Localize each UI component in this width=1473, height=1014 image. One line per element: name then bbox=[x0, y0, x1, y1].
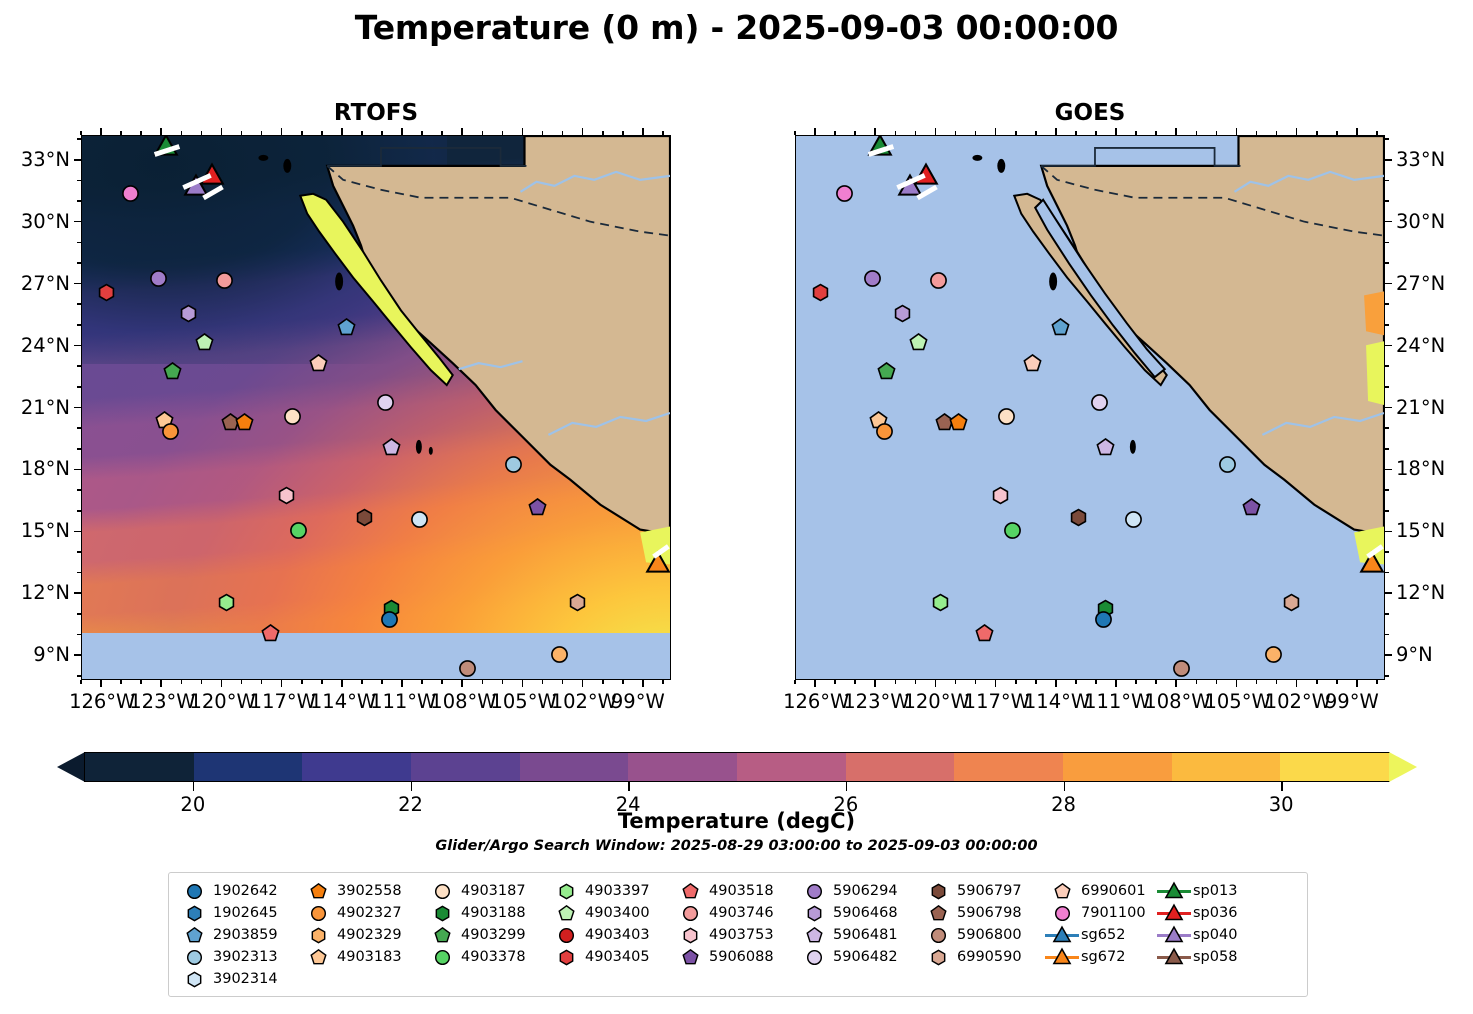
legend-label: 5906088 bbox=[709, 949, 795, 965]
legend-item[interactable]: 4903378 bbox=[423, 946, 547, 968]
map-marker[interactable] bbox=[1003, 521, 1022, 540]
x-axis-label: 120°W bbox=[189, 690, 255, 713]
x-axis-minor-tick bbox=[662, 131, 664, 135]
legend-label: sg652 bbox=[1081, 927, 1155, 943]
y-axis-minor-tick bbox=[77, 510, 81, 512]
x-axis-minor-tick bbox=[1015, 131, 1017, 135]
x-axis-minor-tick bbox=[441, 131, 443, 135]
y-axis-label: 18°N bbox=[1396, 457, 1445, 480]
map-marker[interactable] bbox=[975, 624, 994, 643]
x-axis-minor-tick bbox=[794, 131, 796, 135]
x-axis-minor-tick bbox=[1216, 131, 1218, 135]
x-axis-minor-tick bbox=[1075, 680, 1077, 684]
legend-item[interactable]: 4903188 bbox=[423, 902, 547, 924]
x-axis-tick bbox=[401, 680, 403, 687]
x-axis-minor-tick bbox=[361, 131, 363, 135]
legend-item[interactable]: sp058 bbox=[1155, 946, 1267, 968]
x-axis-label: 111°W bbox=[370, 690, 436, 713]
panel-title-goes: GOES bbox=[795, 100, 1385, 126]
legend-item[interactable]: 4903746 bbox=[671, 902, 795, 924]
map-marker[interactable] bbox=[811, 283, 830, 302]
y-axis-minor-tick bbox=[77, 386, 81, 388]
x-axis-minor-tick bbox=[1256, 680, 1258, 684]
float-marker-icon bbox=[671, 905, 709, 922]
x-axis-tick bbox=[100, 128, 102, 135]
legend-label: 5906482 bbox=[833, 949, 919, 965]
map-marker[interactable] bbox=[1023, 354, 1042, 373]
x-axis-minor-tick bbox=[502, 680, 504, 684]
legend-label: 5906798 bbox=[957, 905, 1043, 921]
legend-label: 4903518 bbox=[709, 883, 795, 899]
colorbar-segment bbox=[628, 753, 737, 781]
legend-item[interactable]: 3902313 bbox=[175, 946, 299, 968]
y-axis-label: 30°N bbox=[0, 210, 70, 233]
x-axis-minor-tick bbox=[140, 680, 142, 684]
x-axis-minor-tick bbox=[381, 680, 383, 684]
map-marker[interactable] bbox=[380, 610, 399, 629]
map-marker[interactable] bbox=[382, 438, 401, 457]
y-axis-minor-tick bbox=[1385, 365, 1389, 367]
legend-item[interactable]: 5906088 bbox=[671, 946, 795, 968]
x-axis-tick bbox=[1055, 128, 1057, 135]
map-marker[interactable] bbox=[309, 354, 328, 373]
map-marker[interactable] bbox=[875, 422, 894, 441]
colorbar-tick bbox=[193, 782, 195, 791]
map-marker[interactable] bbox=[1172, 659, 1191, 678]
legend-item[interactable]: 5906482 bbox=[795, 946, 919, 968]
x-axis-minor-tick bbox=[975, 131, 977, 135]
legend-label: 5906294 bbox=[833, 883, 919, 899]
legend-item[interactable]: 7901100 bbox=[1043, 902, 1155, 924]
legend-item[interactable]: 3902314 bbox=[175, 968, 299, 990]
x-axis-tick bbox=[642, 680, 644, 687]
y-axis-label: 9°N bbox=[1396, 643, 1433, 666]
y-axis-minor-tick bbox=[1385, 242, 1389, 244]
y-axis-tick bbox=[1385, 283, 1392, 285]
legend-label: 4903746 bbox=[709, 905, 795, 921]
legend-label: sp013 bbox=[1193, 883, 1267, 899]
y-axis-minor-tick bbox=[77, 489, 81, 491]
map-marker[interactable] bbox=[909, 333, 928, 352]
map-marker[interactable] bbox=[1094, 610, 1113, 629]
y-axis-tick bbox=[74, 654, 81, 656]
legend-column: 5906797590679859068006990590 bbox=[919, 880, 1043, 990]
colorbar-segment bbox=[1280, 753, 1389, 781]
x-axis-minor-tick bbox=[181, 680, 183, 684]
map-marker[interactable] bbox=[1124, 510, 1143, 529]
x-axis-minor-tick bbox=[622, 680, 624, 684]
x-axis-tick bbox=[1296, 128, 1298, 135]
x-axis-minor-tick bbox=[955, 131, 957, 135]
legend-label: 1902642 bbox=[213, 883, 299, 899]
figure-title: Temperature (0 m) - 2025-09-03 00:00:00 bbox=[0, 8, 1473, 47]
legend-item[interactable]: 4903400 bbox=[547, 902, 671, 924]
map-marker[interactable] bbox=[1218, 455, 1237, 474]
float-marker-icon bbox=[795, 949, 833, 966]
x-axis-tick bbox=[160, 128, 162, 135]
x-axis-label: 108°W bbox=[1144, 690, 1210, 713]
y-axis-label: 12°N bbox=[1396, 581, 1445, 604]
legend-item[interactable]: 4903397 bbox=[547, 880, 671, 902]
map-marker[interactable] bbox=[261, 624, 280, 643]
y-axis-minor-tick bbox=[1385, 634, 1389, 636]
y-axis-minor-tick bbox=[77, 551, 81, 553]
y-axis-minor-tick bbox=[1385, 572, 1389, 574]
map-marker[interactable] bbox=[877, 362, 896, 381]
float-marker-icon bbox=[795, 905, 833, 922]
map-marker[interactable] bbox=[289, 521, 308, 540]
x-axis-tick bbox=[401, 128, 403, 135]
colorbar-label: Temperature (degC) bbox=[0, 809, 1473, 833]
legend-item[interactable]: 5906294 bbox=[795, 880, 919, 902]
x-axis-label: 108°W bbox=[430, 690, 496, 713]
legend-item[interactable]: 4903187 bbox=[423, 880, 547, 902]
legend-label: 4903299 bbox=[461, 927, 547, 943]
legend-item[interactable]: sp036 bbox=[1155, 902, 1267, 924]
x-axis-minor-tick bbox=[975, 680, 977, 684]
legend-item[interactable]: 5906797 bbox=[919, 880, 1043, 902]
y-axis-label: 24°N bbox=[0, 334, 70, 357]
y-axis-minor-tick bbox=[77, 675, 81, 677]
x-axis-minor-tick bbox=[915, 131, 917, 135]
float-marker-icon bbox=[671, 949, 709, 966]
legend-column: sp013sp036sp040sp058 bbox=[1155, 880, 1267, 990]
x-axis-tick bbox=[1115, 680, 1117, 687]
colorbar-segment bbox=[85, 753, 194, 781]
legend-label: 1902645 bbox=[213, 905, 299, 921]
map-marker[interactable] bbox=[931, 593, 950, 612]
y-axis-minor-tick bbox=[1385, 427, 1389, 429]
legend-label: sg672 bbox=[1081, 949, 1155, 965]
x-axis-tick bbox=[1356, 680, 1358, 687]
map-marker[interactable] bbox=[863, 269, 882, 288]
x-axis-minor-tick bbox=[1316, 131, 1318, 135]
float-marker-icon bbox=[919, 883, 957, 900]
legend[interactable]: 1902642190264529038593902313390231439025… bbox=[168, 872, 1308, 997]
y-axis-tick bbox=[1385, 654, 1392, 656]
x-axis-minor-tick bbox=[955, 680, 957, 684]
legend-item[interactable]: sp013 bbox=[1155, 880, 1267, 902]
map-marker[interactable] bbox=[504, 455, 523, 474]
x-axis-label: 105°W bbox=[1204, 690, 1270, 713]
legend-item[interactable]: 5906800 bbox=[919, 924, 1043, 946]
y-axis-minor-tick bbox=[1385, 138, 1389, 140]
x-axis-tick bbox=[582, 680, 584, 687]
legend-item[interactable]: 2903859 bbox=[175, 924, 299, 946]
x-axis-minor-tick bbox=[241, 680, 243, 684]
x-axis-minor-tick bbox=[381, 131, 383, 135]
y-axis-minor-tick bbox=[77, 613, 81, 615]
y-axis-label: 33°N bbox=[1396, 148, 1445, 171]
x-axis-minor-tick bbox=[834, 131, 836, 135]
legend-item[interactable]: 6990590 bbox=[919, 946, 1043, 968]
map-marker[interactable] bbox=[1282, 593, 1301, 612]
x-axis-minor-tick bbox=[181, 131, 183, 135]
legend-label: 4903378 bbox=[461, 949, 547, 965]
float-marker-icon bbox=[175, 883, 213, 900]
colorbar-segment bbox=[520, 753, 629, 781]
float-marker-icon bbox=[795, 883, 833, 900]
legend-item[interactable]: 5906798 bbox=[919, 902, 1043, 924]
map-marker[interactable] bbox=[997, 407, 1016, 426]
map-marker[interactable] bbox=[277, 486, 296, 505]
map-marker[interactable] bbox=[97, 283, 116, 302]
legend-column: 4903187490318849032994903378 bbox=[423, 880, 547, 990]
x-axis-label: 126°W bbox=[69, 690, 135, 713]
y-axis-minor-tick bbox=[1385, 303, 1389, 305]
map-marker[interactable] bbox=[528, 498, 547, 517]
x-axis-minor-tick bbox=[1015, 680, 1017, 684]
x-axis-minor-tick bbox=[1196, 131, 1198, 135]
x-axis-tick bbox=[1115, 128, 1117, 135]
legend-label: 4903400 bbox=[585, 905, 671, 921]
x-axis-minor-tick bbox=[1196, 680, 1198, 684]
y-axis-label: 24°N bbox=[1396, 334, 1445, 357]
legend-item[interactable]: 6990601 bbox=[1043, 880, 1155, 902]
y-axis-minor-tick bbox=[1385, 200, 1389, 202]
x-axis-tick bbox=[1236, 128, 1238, 135]
colorbar-segment bbox=[411, 753, 520, 781]
map-marker[interactable] bbox=[283, 407, 302, 426]
map-marker[interactable] bbox=[235, 413, 254, 432]
float-marker-icon bbox=[423, 905, 461, 922]
legend-label: 4902327 bbox=[337, 905, 423, 921]
map-panel-rtofs[interactable] bbox=[81, 135, 671, 680]
x-axis-minor-tick bbox=[1336, 680, 1338, 684]
x-axis-label: 111°W bbox=[1084, 690, 1150, 713]
map-marker[interactable] bbox=[1264, 645, 1283, 664]
legend-item[interactable]: 4903299 bbox=[423, 924, 547, 946]
x-axis-minor-tick bbox=[1095, 131, 1097, 135]
legend-item[interactable]: 4903403 bbox=[547, 924, 671, 946]
x-axis-minor-tick bbox=[662, 680, 664, 684]
legend-item[interactable]: sg672 bbox=[1043, 946, 1155, 968]
legend-item[interactable]: 4903405 bbox=[547, 946, 671, 968]
float-marker-icon bbox=[423, 883, 461, 900]
x-axis-minor-tick bbox=[361, 680, 363, 684]
y-axis-tick bbox=[74, 159, 81, 161]
x-axis-minor-tick bbox=[140, 131, 142, 135]
x-axis-minor-tick bbox=[1316, 680, 1318, 684]
x-axis-minor-tick bbox=[1155, 680, 1157, 684]
y-axis-minor-tick bbox=[77, 180, 81, 182]
y-axis-tick bbox=[1385, 159, 1392, 161]
map-marker[interactable] bbox=[949, 413, 968, 432]
float-marker-icon bbox=[299, 949, 337, 966]
colorbar: 202224262830 bbox=[57, 752, 1417, 782]
map-marker[interactable] bbox=[458, 659, 477, 678]
legend-item[interactable]: 4902329 bbox=[299, 924, 423, 946]
y-axis-tick bbox=[74, 407, 81, 409]
glider-marker-icon bbox=[1043, 948, 1081, 966]
map-marker[interactable] bbox=[568, 593, 587, 612]
x-axis-label: 102°W bbox=[551, 690, 617, 713]
map-marker[interactable] bbox=[550, 645, 569, 664]
legend-label: 4903403 bbox=[585, 927, 671, 943]
legend-item[interactable]: sg652 bbox=[1043, 924, 1155, 946]
colorbar-segment bbox=[1063, 753, 1172, 781]
x-axis-label: 102°W bbox=[1265, 690, 1331, 713]
float-marker-icon bbox=[547, 883, 585, 900]
map-marker[interactable] bbox=[217, 593, 236, 612]
float-marker-icon bbox=[175, 905, 213, 922]
x-axis-minor-tick bbox=[1376, 680, 1378, 684]
x-axis-tick bbox=[522, 128, 524, 135]
x-axis-label: 99°W bbox=[611, 690, 665, 713]
x-axis-minor-tick bbox=[834, 680, 836, 684]
y-axis-minor-tick bbox=[1385, 489, 1389, 491]
legend-label: 4903188 bbox=[461, 905, 547, 921]
legend-label: 4903397 bbox=[585, 883, 671, 899]
x-axis-tick bbox=[1175, 128, 1177, 135]
x-axis-tick bbox=[1055, 680, 1057, 687]
x-axis-minor-tick bbox=[482, 680, 484, 684]
y-axis-tick bbox=[1385, 469, 1392, 471]
y-axis-minor-tick bbox=[1385, 613, 1389, 615]
map-marker[interactable] bbox=[355, 508, 374, 527]
colorbar-tick bbox=[1064, 782, 1066, 791]
map-marker[interactable] bbox=[991, 486, 1010, 505]
x-axis-minor-tick bbox=[895, 680, 897, 684]
legend-item[interactable]: 4903518 bbox=[671, 880, 795, 902]
map-marker[interactable] bbox=[161, 422, 180, 441]
legend-column: 4903397490340049034034903405 bbox=[547, 880, 671, 990]
y-axis-label: 15°N bbox=[0, 519, 70, 542]
map-marker[interactable] bbox=[893, 304, 912, 323]
y-axis-minor-tick bbox=[77, 634, 81, 636]
legend-label: 2903859 bbox=[213, 927, 299, 943]
y-axis-label: 27°N bbox=[0, 272, 70, 295]
y-axis-label: 27°N bbox=[1396, 272, 1445, 295]
y-axis-tick bbox=[74, 469, 81, 471]
legend-label: 5906797 bbox=[957, 883, 1043, 899]
x-axis-tick bbox=[100, 680, 102, 687]
colorbar-segment bbox=[194, 753, 303, 781]
legend-item[interactable]: 1902645 bbox=[175, 902, 299, 924]
y-axis-tick bbox=[74, 345, 81, 347]
x-axis-tick bbox=[160, 680, 162, 687]
colorbar-extend-low bbox=[57, 752, 85, 782]
legend-item[interactable]: 3902558 bbox=[299, 880, 423, 902]
map-marker[interactable] bbox=[1242, 498, 1261, 517]
y-axis-minor-tick bbox=[77, 448, 81, 450]
glider-marker-icon bbox=[1155, 948, 1193, 966]
map-marker[interactable] bbox=[121, 184, 140, 203]
float-marker-icon bbox=[547, 905, 585, 922]
y-axis-label: 33°N bbox=[0, 148, 70, 171]
x-axis-minor-tick bbox=[915, 680, 917, 684]
legend-column: 5906294590646859064815906482 bbox=[795, 880, 919, 990]
x-axis-label: 114°W bbox=[1024, 690, 1090, 713]
map-marker[interactable] bbox=[1051, 318, 1070, 337]
legend-label: 3902313 bbox=[213, 949, 299, 965]
y-axis-tick bbox=[74, 283, 81, 285]
map-marker[interactable] bbox=[1096, 438, 1115, 457]
float-marker-icon bbox=[919, 949, 957, 966]
x-axis-minor-tick bbox=[562, 680, 564, 684]
float-marker-icon bbox=[299, 927, 337, 944]
y-axis-minor-tick bbox=[77, 427, 81, 429]
x-axis-minor-tick bbox=[1276, 131, 1278, 135]
map-marker[interactable] bbox=[376, 393, 395, 412]
map-marker[interactable] bbox=[410, 510, 429, 529]
x-axis-minor-tick bbox=[421, 680, 423, 684]
y-axis-minor-tick bbox=[77, 572, 81, 574]
legend-item[interactable]: 4903183 bbox=[299, 946, 423, 968]
map-panel-goes[interactable] bbox=[795, 135, 1385, 680]
colorbar-body bbox=[84, 752, 1390, 782]
y-axis-label: 18°N bbox=[0, 457, 70, 480]
map-marker[interactable] bbox=[149, 269, 168, 288]
legend-column: 69906017901100sg652sg672 bbox=[1043, 880, 1155, 990]
legend-label: 5906468 bbox=[833, 905, 919, 921]
x-axis-minor-tick bbox=[80, 680, 82, 684]
y-axis-minor-tick bbox=[77, 200, 81, 202]
legend-label: 4903187 bbox=[461, 883, 547, 899]
x-axis-minor-tick bbox=[120, 680, 122, 684]
float-marker-icon bbox=[423, 927, 461, 944]
x-axis-tick bbox=[642, 128, 644, 135]
y-axis-minor-tick bbox=[77, 242, 81, 244]
x-axis-tick bbox=[221, 128, 223, 135]
y-axis-minor-tick bbox=[1385, 324, 1389, 326]
map-marker[interactable] bbox=[337, 318, 356, 337]
y-axis-minor-tick bbox=[1385, 675, 1389, 677]
legend-item[interactable]: 5906468 bbox=[795, 902, 919, 924]
x-axis-minor-tick bbox=[602, 680, 604, 684]
map-marker[interactable] bbox=[929, 271, 948, 290]
x-axis-minor-tick bbox=[1276, 680, 1278, 684]
y-axis-minor-tick bbox=[1385, 510, 1389, 512]
y-axis-label: 12°N bbox=[0, 581, 70, 604]
map-marker[interactable] bbox=[1090, 393, 1109, 412]
x-axis-minor-tick bbox=[421, 131, 423, 135]
x-axis-tick bbox=[1175, 680, 1177, 687]
y-axis-minor-tick bbox=[77, 324, 81, 326]
map-marker[interactable] bbox=[215, 271, 234, 290]
x-axis-label: 126°W bbox=[783, 690, 849, 713]
x-axis-minor-tick bbox=[321, 680, 323, 684]
legend-label: 4903405 bbox=[585, 949, 671, 965]
x-axis-tick bbox=[814, 128, 816, 135]
x-axis-tick bbox=[341, 128, 343, 135]
map-marker[interactable] bbox=[195, 333, 214, 352]
map-marker[interactable] bbox=[163, 362, 182, 381]
y-axis-label: 21°N bbox=[1396, 396, 1445, 419]
legend-item[interactable]: 4903753 bbox=[671, 924, 795, 946]
legend-label: 7901100 bbox=[1081, 905, 1155, 921]
map-marker[interactable] bbox=[1069, 508, 1088, 527]
x-axis-label: 105°W bbox=[490, 690, 556, 713]
y-axis-minor-tick bbox=[1385, 448, 1389, 450]
legend-label: 5906481 bbox=[833, 927, 919, 943]
x-axis-tick bbox=[582, 128, 584, 135]
map-marker[interactable] bbox=[179, 304, 198, 323]
legend-label: 5906800 bbox=[957, 927, 1043, 943]
x-axis-label: 117°W bbox=[964, 690, 1030, 713]
legend-item[interactable]: sp040 bbox=[1155, 924, 1267, 946]
x-axis-tick bbox=[1296, 680, 1298, 687]
legend-item[interactable]: 5906481 bbox=[795, 924, 919, 946]
x-axis-minor-tick bbox=[80, 131, 82, 135]
map-marker[interactable] bbox=[835, 184, 854, 203]
y-axis-tick bbox=[1385, 221, 1392, 223]
legend-item[interactable]: 1902642 bbox=[175, 880, 299, 902]
x-axis-minor-tick bbox=[1376, 131, 1378, 135]
legend-item[interactable]: 4902327 bbox=[299, 902, 423, 924]
y-axis-tick bbox=[1385, 531, 1392, 533]
float-marker-icon bbox=[423, 949, 461, 966]
